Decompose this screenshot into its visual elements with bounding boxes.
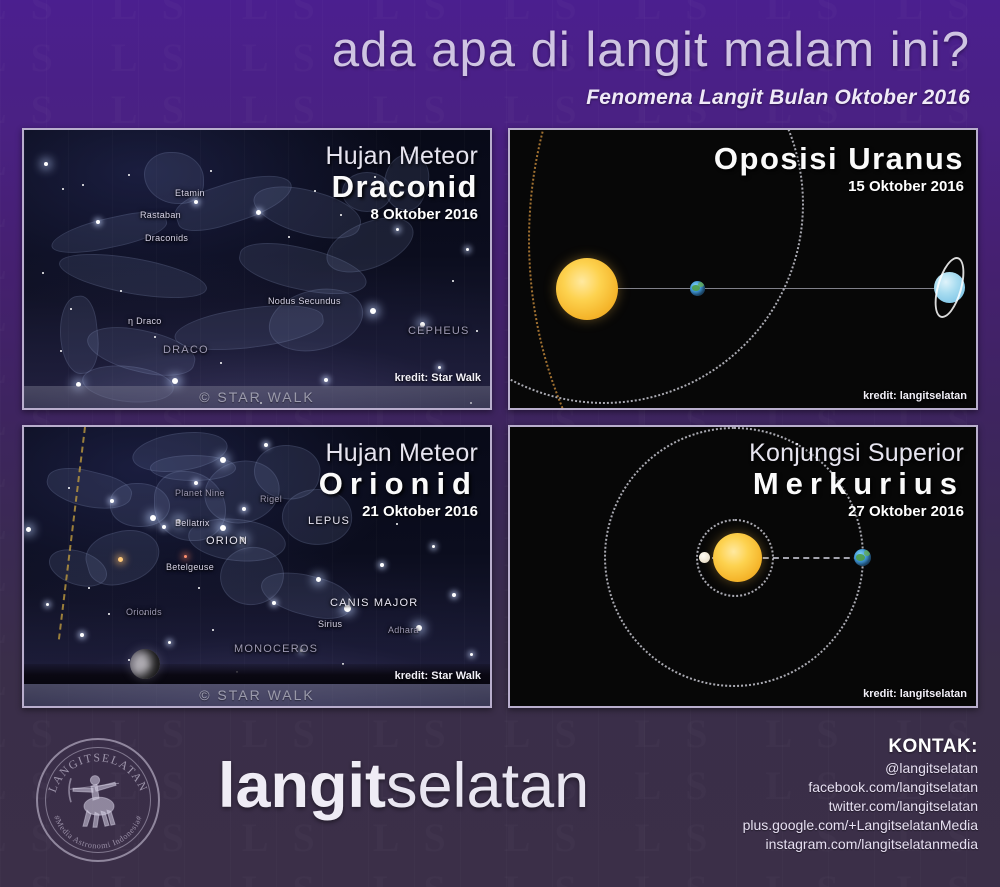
panel-orionid[interactable]: Hujan Meteor Orionid 21 Oktober 2016 kre… — [22, 425, 492, 708]
panel-kicker: Hujan Meteor — [326, 142, 478, 170]
star-label-betelgeuse: Betelgeuse — [166, 562, 214, 572]
footer: LANGITSELATAN #Media Astronomi Indonesia… — [0, 715, 1000, 887]
star-label-bellatrix: Bellatrix — [175, 518, 210, 528]
alignment-line — [610, 288, 960, 289]
earth-body — [690, 281, 705, 296]
panel-name: Merkurius — [749, 467, 964, 501]
constellation-label-draco: DRACO — [163, 344, 209, 356]
mercury-body — [699, 552, 710, 563]
panel-konjungsi-merkurius[interactable]: S S S S S S S S S S S S S S S S S S S S … — [508, 425, 978, 708]
langitselatan-seal-logo: LANGITSELATAN #Media Astronomi Indonesia… — [36, 738, 160, 862]
starwalk-watermark-strip: © STAR WALK — [24, 386, 490, 408]
panel-name: Draconid — [326, 170, 478, 204]
panel-date: 15 Oktober 2016 — [714, 177, 964, 197]
starwalk-watermark-strip: © STAR WALK — [24, 684, 490, 706]
contact-googleplus[interactable]: plus.google.com/+LangitselatanMedia — [743, 816, 978, 835]
brand-wordmark: langitselatan — [218, 753, 589, 819]
constellation-label-orion: ORION — [206, 535, 248, 547]
star-label-planet-nine: Planet Nine — [175, 488, 225, 498]
panel-heading-draconid: Hujan Meteor Draconid 8 Oktober 2016 — [326, 142, 478, 225]
panel-credit: kredit: Star Walk — [395, 670, 481, 682]
star-label-etamin: Etamin — [175, 188, 205, 198]
constellation-label-monoceros: MONOCEROS — [234, 643, 318, 655]
brand-light: selatan — [386, 751, 589, 821]
contact-heading: KONTAK: — [743, 735, 978, 759]
sun-body — [713, 533, 762, 582]
moon-body — [130, 649, 160, 679]
poster-canvas: LS LS LS LS LS LS LS LS LS LS LS LS LS L… — [0, 0, 1000, 887]
panel-kicker: Konjungsi Superior — [749, 439, 964, 467]
page-subtitle: Fenomena Langit Bulan Oktober 2016 — [586, 86, 970, 110]
constellation-label-canis-major: CANIS MAJOR — [330, 597, 418, 609]
panel-credit: kredit: langitselatan — [863, 390, 967, 402]
starwalk-watermark-text: © STAR WALK — [199, 687, 315, 703]
centaur-archer-icon — [65, 770, 131, 832]
star-label-sirius: Sirius — [318, 619, 342, 629]
panel-name: Orionid — [319, 467, 478, 501]
brand-bold: langit — [218, 751, 386, 821]
star-label-orionids: Orionids — [126, 607, 162, 617]
star-label-draconids: Draconids — [145, 233, 188, 243]
sun-body — [556, 258, 618, 320]
panel-name: Oposisi Uranus — [714, 142, 964, 176]
panel-heading-orionid: Hujan Meteor Orionid 21 Oktober 2016 — [319, 439, 478, 522]
panel-heading-uranus: Oposisi Uranus 15 Oktober 2016 — [714, 142, 964, 197]
contact-block: KONTAK: @langitselatan facebook.com/lang… — [743, 735, 978, 854]
panel-date: 27 Oktober 2016 — [749, 502, 964, 522]
panel-heading-merkurius: Konjungsi Superior Merkurius 27 Oktober … — [749, 439, 964, 522]
earth-body — [854, 549, 871, 566]
panel-kicker: Hujan Meteor — [319, 439, 478, 467]
star-label-rastaban: Rastaban — [140, 210, 181, 220]
constellation-label-lepus: LEPUS — [308, 515, 350, 527]
panel-oposisi-uranus[interactable]: S S S S S S S S S S S S S S S S S S S S … — [508, 128, 978, 410]
contact-twitter[interactable]: twitter.com/langitselatan — [743, 797, 978, 816]
star-label-adhara: Adhara — [388, 625, 419, 635]
constellation-label-cepheus: CEPHEUS — [408, 325, 470, 337]
panel-draconid[interactable]: Hujan Meteor Draconid 8 Oktober 2016 kre… — [22, 128, 492, 410]
star-label-nodus-secundus: Nodus Secundus — [268, 296, 341, 306]
page-title: ada apa di langit malam ini? — [0, 22, 970, 78]
starwalk-watermark-text: © STAR WALK — [199, 389, 315, 405]
contact-instagram-handle[interactable]: @langitselatan — [743, 759, 978, 778]
star-label-eta-draco: η Draco — [128, 316, 162, 326]
contact-instagram[interactable]: instagram.com/langitselatanmedia — [743, 835, 978, 854]
panel-date: 8 Oktober 2016 — [326, 205, 478, 225]
star-label-rigel: Rigel — [260, 494, 282, 504]
panel-credit: kredit: langitselatan — [863, 688, 967, 700]
contact-facebook[interactable]: facebook.com/langitselatan — [743, 778, 978, 797]
panel-credit: kredit: Star Walk — [395, 372, 481, 384]
